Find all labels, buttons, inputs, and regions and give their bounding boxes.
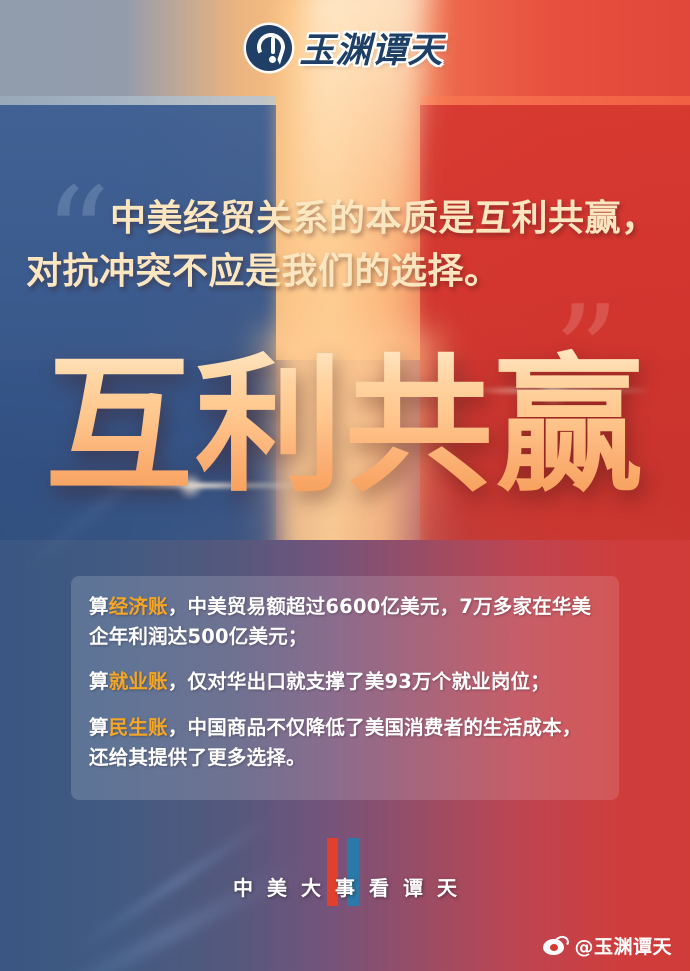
fact-1-highlight: 经济账: [109, 595, 168, 618]
poster-canvas: 玉渊谭天 “ ” 中美经贸关系的本质是互利共赢，对抗冲突不应是我们的选择。 互利…: [0, 0, 690, 971]
weibo-handle: @玉渊谭天: [574, 932, 672, 959]
headline-title: 互利共赢: [0, 348, 690, 503]
footer-slogan: 中美大事看谭天: [0, 872, 690, 901]
fact-paragraph-1: 算经济账，中美贸易额超过6600亿美元，7万多家在华美企年利润达500亿美元；: [89, 592, 601, 651]
fact-3-highlight: 民生账: [109, 716, 168, 739]
fact-2-rest: ，仅对华出口就支撑了美93万个就业岗位；: [168, 670, 550, 693]
weibo-icon: [543, 936, 569, 955]
weibo-watermark: @玉渊谭天: [543, 932, 672, 959]
quote-text: 中美经贸关系的本质是互利共赢，对抗冲突不应是我们的选择。: [26, 192, 664, 299]
swirl-stem: [271, 37, 275, 54]
fact-paragraph-2: 算就业账，仅对华出口就支撑了美93万个就业岗位；: [89, 667, 601, 697]
facts-panel: 算经济账，中美贸易额超过6600亿美元，7万多家在华美企年利润达500亿美元； …: [71, 576, 619, 800]
wave-swirl-icon: [246, 25, 292, 71]
fact-paragraph-3: 算民生账，中国商品不仅降低了美国消费者的生活成本，还给其提供了更多选择。: [89, 713, 601, 772]
fact-2-lead: 算: [89, 670, 109, 693]
brand-logo-text: 玉渊谭天: [299, 22, 443, 73]
fact-1-lead: 算: [89, 595, 109, 618]
quote-block: “ ” 中美经贸关系的本质是互利共赢，对抗冲突不应是我们的选择。: [0, 192, 690, 299]
fact-3-lead: 算: [89, 716, 109, 739]
brand-logo: 玉渊谭天: [0, 22, 690, 73]
fact-2-highlight: 就业账: [109, 670, 168, 693]
